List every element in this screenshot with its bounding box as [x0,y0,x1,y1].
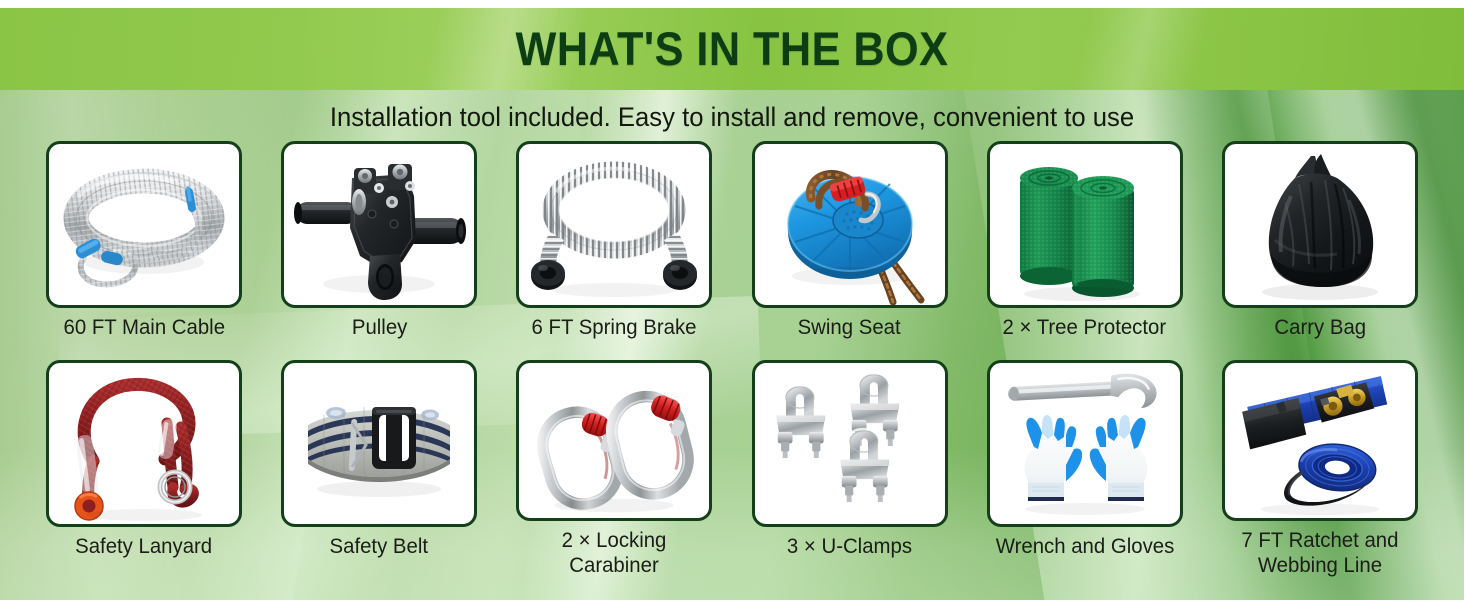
product-card[interactable] [46,360,242,527]
product-cell-u-clamps[interactable]: 3 × U-Clamps [752,360,948,578]
product-card[interactable] [1222,141,1418,308]
main-cable-icon [49,144,239,305]
product-label: 3 × U-Clamps [787,534,912,559]
safety-lanyard-icon [49,363,239,524]
product-cell-tree-protector[interactable]: 2 × Tree Protector [987,141,1183,359]
swing-seat-icon [755,144,945,305]
locking-carabiner-icon [519,363,709,518]
product-cell-safety-lanyard[interactable]: Safety Lanyard [46,360,242,578]
safety-belt-icon [284,363,474,524]
product-cell-main-cable[interactable]: 60 FT Main Cable [46,141,242,359]
spring-brake-icon [519,144,709,305]
page-title: WHAT'S IN THE BOX [59,8,1406,90]
carry-bag-icon [1225,144,1415,305]
product-card[interactable] [281,141,477,308]
product-cell-spring-brake[interactable]: 6 FT Spring Brake [516,141,712,359]
product-cell-locking-carabiner[interactable]: 2 × Locking Carabiner [516,360,712,578]
product-card[interactable] [752,360,948,527]
product-cell-carry-bag[interactable]: Carry Bag [1222,141,1418,359]
product-label: 2 × Tree Protector [1003,315,1167,340]
product-card[interactable] [1222,360,1418,521]
product-cell-pulley[interactable]: Pulley [281,141,477,359]
product-label: 6 FT Spring Brake [532,315,697,340]
ratchet-webbing-icon [1225,363,1415,518]
product-card[interactable] [516,141,712,308]
product-label: 2 × Locking Carabiner [519,528,709,578]
product-label: Wrench and Gloves [995,534,1174,559]
product-grid: 60 FT Main Cable [0,141,1464,591]
product-label: Safety Belt [330,534,429,559]
product-cell-wrench-gloves[interactable]: Wrench and Gloves [987,360,1183,578]
u-clamps-icon [755,363,945,524]
pulley-icon [284,144,474,305]
infographic-root: WHAT'S IN THE BOX Installation tool incl… [0,0,1464,600]
tree-protector-icon [990,144,1180,305]
product-card[interactable] [987,141,1183,308]
header-banner: WHAT'S IN THE BOX [0,8,1464,90]
product-label: Pulley [351,315,406,340]
product-row: 60 FT Main Cable [0,141,1464,359]
subtitle: Installation tool included. Easy to inst… [37,100,1428,134]
product-cell-ratchet-webbing[interactable]: 7 FT Ratchet and Webbing Line [1222,360,1418,578]
product-card[interactable] [516,360,712,521]
product-row: Safety Lanyard [0,360,1464,578]
top-white-strip [0,0,1464,8]
product-cell-safety-belt[interactable]: Safety Belt [281,360,477,578]
product-label: Carry Bag [1274,315,1366,340]
product-label: 7 FT Ratchet and Webbing Line [1241,528,1398,578]
wrench-gloves-icon [990,363,1180,524]
product-label: Safety Lanyard [75,534,212,559]
product-label: Swing Seat [798,315,901,340]
product-cell-swing-seat[interactable]: Swing Seat [752,141,948,359]
product-card[interactable] [987,360,1183,527]
product-card[interactable] [281,360,477,527]
product-card[interactable] [46,141,242,308]
product-label: 60 FT Main Cable [63,315,225,340]
product-card[interactable] [752,141,948,308]
